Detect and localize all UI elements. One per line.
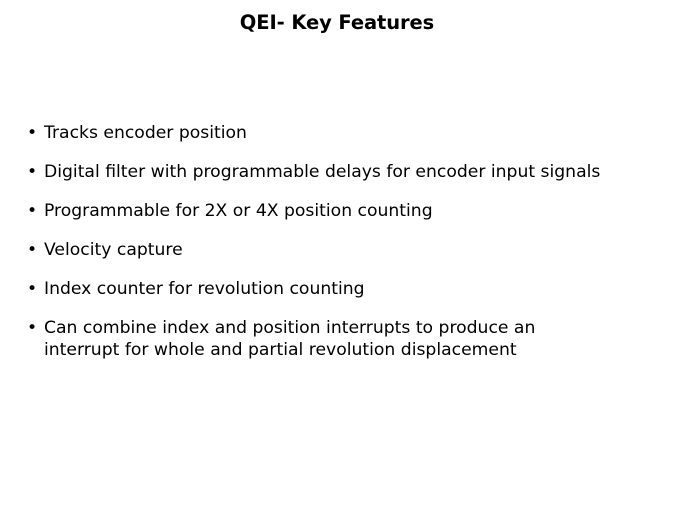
- bullet-icon: •: [27, 200, 39, 222]
- list-item: • Digital filter with programmable delay…: [24, 161, 664, 183]
- list-item: • Velocity capture: [24, 239, 664, 261]
- bullet-icon: •: [27, 278, 39, 300]
- list-item: • Can combine index and position interru…: [24, 317, 664, 361]
- list-item-label: Programmable for 2X or 4X position count…: [44, 200, 664, 222]
- slide: QEI- Key Features • Tracks encoder posit…: [0, 0, 674, 506]
- bullet-icon: •: [27, 161, 39, 183]
- list-item-label: Digital filter with programmable delays …: [44, 161, 664, 183]
- list-item: • Index counter for revolution counting: [24, 278, 664, 300]
- bullet-icon: •: [27, 122, 39, 144]
- key-features-bullet-list: • Tracks encoder position • Digital filt…: [24, 122, 664, 361]
- list-item-label: Can combine index and position interrupt…: [44, 317, 664, 361]
- list-item-label: Velocity capture: [44, 239, 664, 261]
- bullet-icon: •: [27, 317, 39, 339]
- page-title: QEI- Key Features: [0, 11, 674, 35]
- list-item: • Programmable for 2X or 4X position cou…: [24, 200, 664, 222]
- list-item: • Tracks encoder position: [24, 122, 664, 144]
- bullet-icon: •: [27, 239, 39, 261]
- list-item-label: Tracks encoder position: [44, 122, 664, 144]
- list-item-label: Index counter for revolution counting: [44, 278, 664, 300]
